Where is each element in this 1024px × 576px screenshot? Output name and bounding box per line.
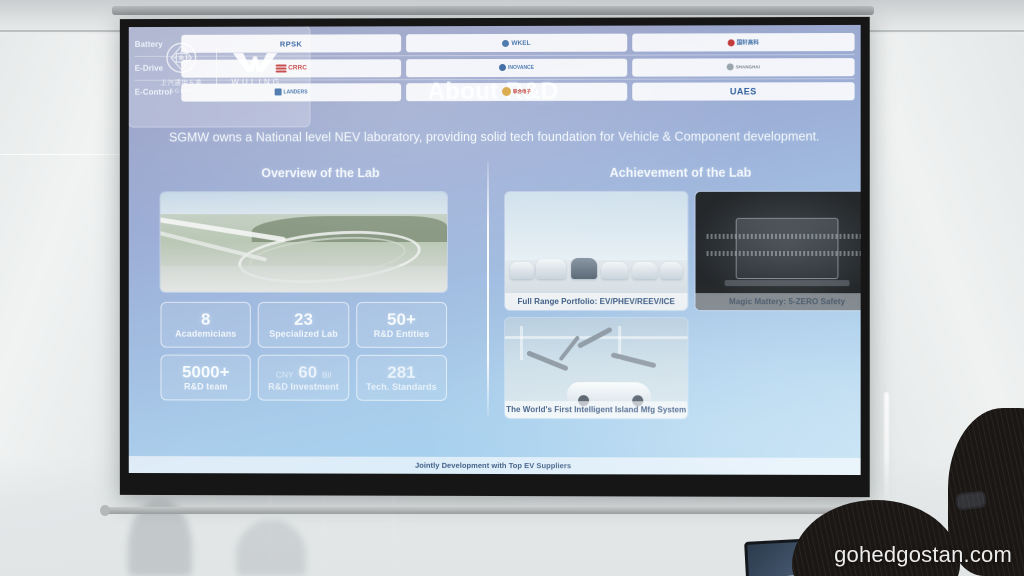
battery-base xyxy=(725,280,850,286)
stat-label: Academicians xyxy=(175,329,236,339)
logo-mark-icon xyxy=(275,88,282,95)
supplier-category: Battery xyxy=(135,39,177,48)
vehicle xyxy=(602,262,629,279)
stat-tile: 8 Academicians xyxy=(160,302,251,348)
card-sky xyxy=(505,192,687,265)
card-intelligent-island-mfg: The World's First Intelligent Island Mfg… xyxy=(505,318,687,418)
stat-value: 5000+ xyxy=(182,364,229,381)
stat-label: Specialized Lab xyxy=(269,329,338,339)
stat-value: 50+ xyxy=(387,311,416,328)
supplier-rows: Battery RPSK WKEL 国轩高科 xyxy=(129,27,310,110)
stat-value: CNY 60 Bil xyxy=(276,364,332,381)
vehicle xyxy=(660,262,682,279)
supplier-logo: LANDERS xyxy=(181,83,309,101)
supplier-category: E-Control xyxy=(135,88,177,97)
screen-surface: 上汽通用五菱 SGMW WULING About R&D SGMW xyxy=(129,25,861,475)
presentation-slide: 上汽通用五菱 SGMW WULING About R&D SGMW xyxy=(129,25,861,475)
supplier-logo-text: CRRC xyxy=(288,64,307,71)
card-full-range-portfolio: Full Range Portfolio: EV/PHEV/REEV/ICE xyxy=(505,192,687,310)
stat-label: Tech. Standards xyxy=(366,382,437,392)
projection-screen-assembly: 上汽通用五菱 SGMW WULING About R&D SGMW xyxy=(118,14,868,506)
stat-tile: CNY 60 Bil R&D Investment xyxy=(258,355,349,401)
card-magic-battery: Magic Mattery: 5-ZERO Safety xyxy=(695,192,860,311)
section-heading-overview: Overview of the Lab xyxy=(157,166,485,180)
supplier-row-econtrol: E-Control LANDERS 联合电子 UAES xyxy=(135,78,310,104)
stat-label: R&D Entities xyxy=(374,329,430,339)
factory-beam xyxy=(520,326,523,360)
logo-mark-icon xyxy=(275,64,286,72)
card-caption: Full Range Portfolio: EV/PHEV/REEV/ICE xyxy=(505,293,687,310)
stat-tile: 5000+ R&D team xyxy=(160,355,251,401)
vehicle xyxy=(633,262,658,279)
supplier-row-battery: Battery RPSK WKEL 国轩高科 xyxy=(135,30,310,56)
battery-pack-render xyxy=(736,218,839,280)
stat-value: 23 xyxy=(294,311,313,328)
battery-cell-row xyxy=(706,234,860,239)
screen-roller-top xyxy=(112,6,874,15)
watermark: gohedgostan.com xyxy=(834,542,1012,568)
vehicle xyxy=(536,259,566,279)
card-caption: The World's First Intelligent Island Mfg… xyxy=(505,401,687,418)
stat-prefix: CNY xyxy=(276,370,294,380)
section-heading-achievement: Achievement of the Lab xyxy=(505,166,857,180)
stats-grid: 8 Academicians 23 Specialized Lab 50+ R&… xyxy=(160,302,447,401)
vehicle xyxy=(510,262,534,279)
screen-roller-bottom xyxy=(104,507,882,514)
card-supplier-grid: Battery RPSK WKEL 国轩高科 xyxy=(129,27,310,127)
stat-tile: 23 Specialized Lab xyxy=(258,302,349,348)
stat-label: R&D team xyxy=(184,382,227,392)
supplier-category: E-Drive xyxy=(135,64,177,73)
photo-facility-area xyxy=(160,266,447,292)
stat-value: 8 xyxy=(201,311,210,328)
stat-tile: 50+ R&D Entities xyxy=(356,302,447,348)
card-caption: Magic Mattery: 5-ZERO Safety xyxy=(695,293,860,310)
stat-unit: Bil xyxy=(322,370,331,380)
vehicle xyxy=(571,258,597,279)
slide-subtitle: SGMW owns a National level NEV laborator… xyxy=(129,129,861,144)
supplier-row-edrive: E-Drive CRRC INOVANCE SHAN xyxy=(135,54,310,80)
supplier-logo-text: LANDERS xyxy=(284,89,308,95)
battery-cell-row xyxy=(706,251,860,256)
supplier-logo: RPSK xyxy=(181,34,309,53)
stat-tile: 281 Tech. Standards xyxy=(356,355,447,401)
stat-label: R&D Investment xyxy=(268,382,339,392)
lab-aerial-photo xyxy=(160,192,447,292)
column-divider xyxy=(487,162,489,417)
stat-number: 60 xyxy=(298,363,317,382)
screen-frame: 上汽通用五菱 SGMW WULING About R&D SGMW xyxy=(120,17,870,497)
supplier-logo: CRRC xyxy=(181,59,309,77)
stat-value: 281 xyxy=(387,364,415,381)
